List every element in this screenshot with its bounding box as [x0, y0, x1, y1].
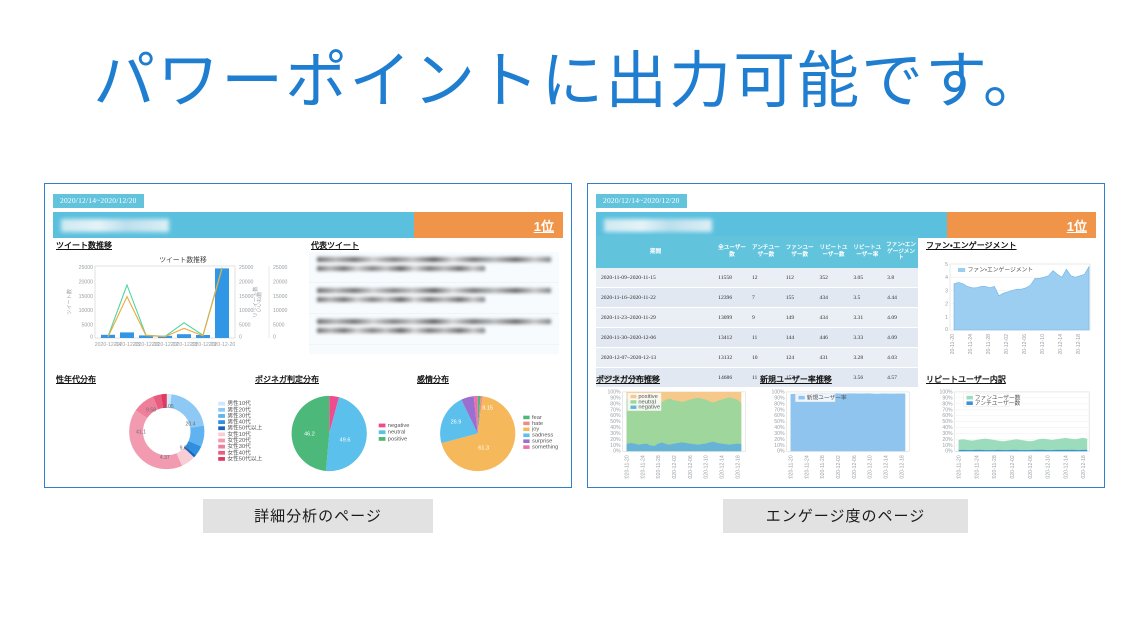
svg-text:2020-12-20: 2020-12-20 — [209, 342, 236, 348]
cell-anti-users: 7 — [749, 288, 783, 308]
redacted-text-line — [317, 257, 551, 262]
svg-text:5: 5 — [945, 262, 948, 268]
metrics-table: 期間 全ユーザー数 アンチユーザー数 ファンユーザー数 リピートユーザー数 リピ… — [596, 236, 918, 388]
svg-text:男性30代: 男性30代 — [227, 411, 251, 419]
redacted-text-line — [317, 328, 485, 333]
cell-period: 2020-11-09~2020-11-15 — [596, 268, 715, 288]
svg-text:25000: 25000 — [79, 265, 94, 271]
svg-text:アンチユーザー数: アンチユーザー数 — [975, 399, 1021, 407]
redacted-text-line — [317, 319, 551, 324]
left-rank-label: 1位 — [414, 212, 563, 238]
svg-text:2020-12-14: 2020-12-14 — [883, 455, 889, 479]
table-header-row: 期間 全ユーザー数 アンチユーザー数 ファンユーザー数 リピートユーザー数 リピ… — [596, 236, 918, 268]
svg-text:2020-12-18: 2020-12-18 — [735, 455, 741, 479]
svg-text:4.37: 4.37 — [160, 455, 170, 461]
cell-fan-engagement: 4.09 — [884, 328, 918, 348]
svg-text:2020-12-10: 2020-12-10 — [868, 455, 874, 479]
svg-text:10000: 10000 — [273, 308, 288, 314]
svg-text:2020-12-10: 2020-12-10 — [1046, 455, 1052, 479]
svg-text:2020-12-14: 2020-12-14 — [1063, 455, 1069, 479]
svg-text:9.58: 9.58 — [146, 408, 156, 414]
col-repeat-users: リピートユーザー数 — [817, 236, 851, 268]
caption-engagement: エンゲージ度のページ — [723, 499, 968, 533]
svg-text:2020-12-10: 2020-12-10 — [704, 455, 710, 479]
svg-text:2020-11-28: 2020-11-28 — [820, 455, 826, 479]
svg-text:2020-12-02: 2020-12-02 — [1010, 455, 1016, 479]
chart-new-user-trend: 100%90% 80%70% 60%50% 40%30% 20%10% 0% 新… — [760, 384, 918, 479]
list-item[interactable] — [309, 252, 559, 283]
svg-text:2020-11-20: 2020-11-20 — [788, 455, 794, 479]
svg-text:0: 0 — [239, 335, 242, 341]
list-item[interactable] — [309, 283, 559, 314]
svg-text:2020-11-28: 2020-11-28 — [656, 455, 662, 479]
cell-total-users: 11558 — [715, 268, 749, 288]
svg-text:女性30代: 女性30代 — [227, 442, 251, 450]
svg-text:2020-11-28: 2020-11-28 — [986, 334, 992, 354]
left-account-bar — [53, 212, 414, 238]
svg-text:20.4: 20.4 — [186, 422, 196, 428]
chart-repeat-breakdown: 100%90% 80%70% 60%50% 40%30% 20%10% 0% フ… — [926, 384, 1098, 479]
cell-fan-engagement: 4.44 — [884, 288, 918, 308]
svg-text:46.2: 46.2 — [304, 431, 315, 437]
right-date-badge: 2020/12/14~2020/12/20 — [596, 194, 687, 208]
svg-text:20000: 20000 — [79, 279, 94, 285]
svg-text:2020-11-28: 2020-11-28 — [992, 455, 998, 479]
cell-total-users: 13099 — [715, 308, 749, 328]
svg-text:2020-12-14: 2020-12-14 — [719, 455, 725, 479]
svg-text:1: 1 — [945, 315, 948, 321]
page-title: パワーポイントに出力可能です。 — [0, 30, 1140, 120]
engagement-panel: 2020/12/14~2020/12/20 1位 期間 全ユーザー数 アンチユー… — [587, 183, 1105, 488]
heading-representative-tweets: 代表ツイート — [311, 240, 359, 251]
cell-repeat-rate: 3.28 — [850, 348, 884, 368]
svg-text:新規ユーザー率: 新規ユーザー率 — [807, 393, 847, 401]
svg-text:25000: 25000 — [239, 265, 254, 271]
cell-repeat-rate: 3.31 — [850, 308, 884, 328]
caption-detail-analysis: 詳細分析のページ — [203, 499, 433, 533]
svg-text:something: something — [532, 445, 558, 451]
cell-repeat-users: 446 — [817, 328, 851, 348]
svg-text:61.3: 61.3 — [478, 445, 489, 451]
svg-text:2020-12-18: 2020-12-18 — [899, 455, 905, 479]
detail-analysis-panel: 2020/12/14~2020/12/20 1位 ツイート数推移 代表ツイート … — [44, 183, 572, 488]
cell-repeat-users: 431 — [817, 348, 851, 368]
svg-text:0: 0 — [945, 327, 948, 333]
chart-tweet-trend: ツイート数推移 25000 20000 15000 10000 5000 0 ツ… — [59, 252, 307, 354]
right-rank-label: 1位 — [947, 212, 1096, 238]
account-name-redacted — [61, 219, 169, 232]
svg-text:ツイート数: ツイート数 — [65, 288, 73, 315]
svg-text:2020-11-24: 2020-11-24 — [968, 334, 974, 354]
cell-period: 2020-12-07~2020-12-13 — [596, 348, 715, 368]
cell-fan-engagement: 4.03 — [884, 348, 918, 368]
redacted-text-line — [317, 266, 485, 271]
svg-text:女性40代: 女性40代 — [227, 448, 251, 456]
svg-text:0: 0 — [273, 335, 276, 341]
svg-text:0%: 0% — [613, 448, 621, 454]
svg-text:10000: 10000 — [239, 308, 254, 314]
cell-repeat-users: 434 — [817, 308, 851, 328]
svg-text:9.01: 9.01 — [180, 445, 190, 451]
cell-period: 2020-11-30~2020-12-06 — [596, 328, 715, 348]
svg-text:15000: 15000 — [273, 294, 288, 300]
svg-text:25000: 25000 — [273, 265, 288, 271]
col-repeat-rate: リピートユーザー率 — [850, 236, 884, 268]
svg-text:2020-12-06: 2020-12-06 — [1028, 455, 1034, 479]
svg-text:いいね数: いいね数 — [255, 291, 263, 313]
col-fan-engagement: ファン・エンゲージメント — [884, 236, 918, 268]
svg-text:8.15: 8.15 — [482, 406, 493, 412]
cell-repeat-users: 352 — [817, 268, 851, 288]
svg-text:3: 3 — [945, 288, 948, 294]
svg-text:0%: 0% — [945, 448, 953, 454]
chart-posneg-pie: 49.6 46.2 negative neutral positive — [277, 384, 427, 479]
chart-fan-engagement: 54 32 10 ファン・エンゲージメント 2020-11-20 2020-11… — [926, 252, 1098, 354]
svg-text:5000: 5000 — [81, 323, 93, 329]
svg-text:2020-12-06: 2020-12-06 — [1022, 334, 1028, 354]
svg-text:2020-12-02: 2020-12-02 — [1004, 334, 1010, 354]
col-period: 期間 — [596, 236, 715, 268]
cell-fan-users: 144 — [783, 328, 817, 348]
svg-text:女性10代: 女性10代 — [227, 430, 251, 438]
cell-total-users: 13412 — [715, 328, 749, 348]
table-row[interactable]: 2020-11-23~2020-11-29 13099 9 149 434 3.… — [596, 308, 918, 328]
svg-text:20000: 20000 — [239, 279, 254, 285]
table-row[interactable]: 2020-12-07~2020-12-13 13132 10 124 431 3… — [596, 348, 918, 368]
svg-text:15000: 15000 — [79, 294, 94, 300]
svg-text:positive: positive — [388, 436, 407, 442]
svg-text:男性50代以上: 男性50代以上 — [227, 424, 262, 432]
svg-text:2020-12-06: 2020-12-06 — [688, 455, 694, 479]
svg-text:41.1: 41.1 — [136, 429, 146, 435]
heading-tweet-trend: ツイート数推移 — [56, 240, 112, 251]
cell-fan-engagement: 4.09 — [884, 308, 918, 328]
svg-text:5000: 5000 — [239, 323, 251, 329]
table-row[interactable]: 2020-11-30~2020-12-06 13412 11 144 446 3… — [596, 328, 918, 348]
svg-text:2020-12-18: 2020-12-18 — [1081, 455, 1087, 479]
cell-repeat-users: 434 — [817, 288, 851, 308]
right-account-bar — [596, 212, 947, 238]
svg-text:neutral: neutral — [388, 430, 406, 436]
list-item[interactable] — [309, 314, 559, 345]
cell-anti-users: 9 — [749, 308, 783, 328]
svg-text:女性20代: 女性20代 — [227, 436, 251, 444]
chart-tweet-trend-title: ツイート数推移 — [159, 255, 207, 264]
svg-text:0%: 0% — [777, 448, 785, 454]
col-anti-users: アンチユーザー数 — [749, 236, 783, 268]
svg-text:2020-12-10: 2020-12-10 — [1040, 334, 1046, 354]
metrics-table-wrapper: 期間 全ユーザー数 アンチユーザー数 ファンユーザー数 リピートユーザー数 リピ… — [596, 236, 918, 354]
svg-text:5000: 5000 — [273, 323, 285, 329]
svg-text:2.05: 2.05 — [164, 404, 174, 410]
svg-text:2020-11-24: 2020-11-24 — [640, 455, 646, 479]
svg-text:negative: negative — [638, 405, 660, 411]
heading-gender-age: 性年代分布 — [56, 374, 96, 385]
cell-repeat-rate: 3.33 — [850, 328, 884, 348]
cell-total-users: 12396 — [715, 288, 749, 308]
cell-period: 2020-11-16~2020-11-22 — [596, 288, 715, 308]
svg-text:0: 0 — [90, 335, 93, 341]
representative-tweet-list[interactable] — [309, 252, 559, 354]
heading-fan-engagement: ファン・エンゲージメント — [926, 240, 1017, 251]
svg-text:2020-11-24: 2020-11-24 — [974, 455, 980, 479]
cell-anti-users: 10 — [749, 348, 783, 368]
svg-text:2020-12-18: 2020-12-18 — [1076, 334, 1082, 354]
cell-total-users: 13132 — [715, 348, 749, 368]
svg-text:2020-12-06: 2020-12-06 — [852, 455, 858, 479]
col-total-users: 全ユーザー数 — [715, 236, 749, 268]
svg-text:女性50代以上: 女性50代以上 — [227, 454, 262, 462]
svg-text:2020-11-24: 2020-11-24 — [804, 455, 810, 479]
svg-text:2020-11-20: 2020-11-20 — [624, 455, 630, 479]
svg-text:4: 4 — [945, 275, 948, 281]
svg-text:15000: 15000 — [239, 294, 254, 300]
cell-repeat-rate: 3.05 — [850, 268, 884, 288]
svg-text:男性10代: 男性10代 — [227, 399, 251, 407]
svg-text:2020-12-02: 2020-12-02 — [672, 455, 678, 479]
redacted-text-line — [317, 297, 485, 302]
svg-text:negative: negative — [388, 423, 410, 429]
chart-gender-age-donut: 2.05 20.4 9.01 4.37 41.1 9.58 男性10代 男性20… — [105, 384, 280, 479]
table-row[interactable]: 2020-11-09~2020-11-15 11558 12 112 352 3… — [596, 268, 918, 288]
cell-anti-users: 12 — [749, 268, 783, 288]
svg-text:男性20代: 男性20代 — [227, 405, 251, 413]
chart-emotion-pie: 61.3 26.9 8.15 fear hate joy sadness sur… — [427, 384, 572, 479]
svg-text:49.6: 49.6 — [340, 437, 351, 443]
svg-text:2020-12-14: 2020-12-14 — [1058, 334, 1064, 354]
cell-fan-users: 155 — [783, 288, 817, 308]
cell-anti-users: 11 — [749, 328, 783, 348]
cell-fan-users: 124 — [783, 348, 817, 368]
table-row[interactable]: 2020-11-16~2020-11-22 12396 7 155 434 3.… — [596, 288, 918, 308]
svg-text:男性40代: 男性40代 — [227, 418, 251, 426]
svg-text:2020-12-02: 2020-12-02 — [836, 455, 842, 479]
cell-fan-engagement: 3.8 — [884, 268, 918, 288]
cell-period: 2020-11-23~2020-11-29 — [596, 308, 715, 328]
svg-text:ファン・エンゲージメント: ファン・エンゲージメント — [968, 266, 1034, 274]
right-rank-bar: 1位 — [596, 212, 1096, 238]
svg-text:10000: 10000 — [79, 308, 94, 314]
left-rank-bar: 1位 — [53, 212, 563, 238]
svg-text:2: 2 — [945, 302, 948, 308]
svg-text:2020-11-20: 2020-11-20 — [950, 334, 956, 354]
svg-text:26.9: 26.9 — [451, 420, 462, 426]
chart-posneg-trend: 100%90% 80%70% 60%50% 40%30% 20%10% 0% p… — [596, 384, 754, 479]
left-date-badge: 2020/12/14~2020/12/20 — [53, 194, 144, 208]
redacted-text-line — [317, 288, 551, 293]
col-fan-users: ファンユーザー数 — [783, 236, 817, 268]
cell-fan-users: 112 — [783, 268, 817, 288]
account-name-redacted — [604, 219, 712, 232]
svg-text:20000: 20000 — [273, 279, 288, 285]
cell-fan-users: 149 — [783, 308, 817, 328]
cell-repeat-rate: 3.5 — [850, 288, 884, 308]
svg-text:2020-11-20: 2020-11-20 — [957, 455, 963, 479]
